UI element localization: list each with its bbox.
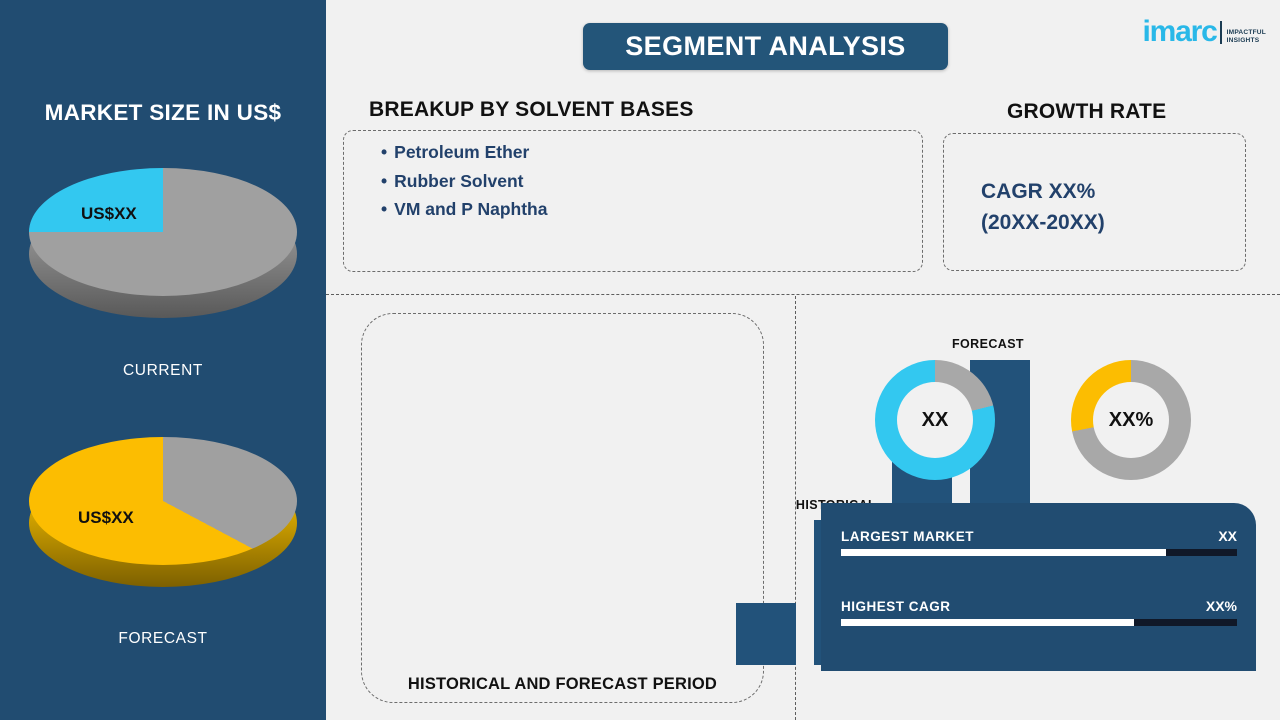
forecast-pie-value: US$XX: [78, 508, 134, 528]
list-item: Rubber Solvent: [381, 167, 547, 196]
page-title: SEGMENT ANALYSIS: [625, 31, 905, 62]
current-pie-value: US$XX: [81, 204, 137, 224]
stat-label: LARGEST MARKET: [841, 529, 974, 544]
horizontal-divider: [326, 294, 1280, 295]
cagr-period: (20XX-20XX): [981, 207, 1105, 238]
donut-center: XX: [897, 382, 973, 458]
donut-center: XX%: [1093, 382, 1169, 458]
list-item: Petroleum Ether: [381, 138, 547, 167]
stat-progress-track: [841, 619, 1237, 626]
page-title-badge: SEGMENT ANALYSIS: [583, 23, 948, 70]
pie-3d-top: [29, 168, 297, 296]
segment-analysis-panel: SEGMENT ANALYSIS imarc IMPACTFUL INSIGHT…: [326, 0, 1280, 720]
highest-cagr-donut: XX%: [1071, 360, 1191, 480]
stat-progress-track: [841, 549, 1237, 556]
logo-divider: [1220, 21, 1222, 44]
stat-progress-fill: [841, 549, 1166, 556]
current-pie-caption: CURRENT: [0, 362, 326, 380]
forecast-pie-caption: FORECAST: [0, 630, 326, 648]
key-stats-panel: LARGEST MARKET XX HIGHEST CAGR XX%: [821, 503, 1256, 671]
current-pie-chart: US$XX: [0, 168, 326, 318]
logo-tagline-line2: INSIGHTS: [1227, 37, 1266, 46]
pie-3d-top: [29, 437, 297, 565]
chart-axis-label: HISTORICAL AND FORECAST PERIOD: [361, 675, 764, 694]
forecast-pie-chart: US$XX: [0, 437, 326, 587]
donut-value: XX: [922, 409, 949, 432]
stat-largest-market: LARGEST MARKET XX: [841, 528, 1237, 556]
logo-tagline-line1: IMPACTFUL: [1227, 29, 1266, 38]
forecast-annotation: FORECAST: [928, 337, 1048, 351]
largest-market-donut: XX: [875, 360, 995, 480]
breakup-heading: BREAKUP BY SOLVENT BASES: [369, 98, 694, 122]
bar-1: [736, 603, 796, 665]
donut-value: XX%: [1109, 409, 1153, 432]
growth-rate-heading: GROWTH RATE: [1007, 100, 1166, 124]
stat-label: HIGHEST CAGR: [841, 599, 951, 614]
imarc-logo: imarc IMPACTFUL INSIGHTS: [1143, 12, 1266, 46]
cagr-value: CAGR XX%: [981, 176, 1105, 207]
list-item: VM and P Naphtha: [381, 195, 547, 224]
stat-value: XX: [1218, 528, 1237, 544]
logo-tagline: IMPACTFUL INSIGHTS: [1227, 29, 1266, 46]
stat-progress-fill: [841, 619, 1134, 626]
sidebar-title: MARKET SIZE IN US$: [0, 100, 326, 126]
historical-forecast-chart-box: [361, 313, 764, 703]
stat-value: XX%: [1206, 598, 1237, 614]
logo-wordmark: imarc: [1143, 18, 1217, 46]
cagr-text: CAGR XX% (20XX-20XX): [981, 176, 1105, 238]
stat-highest-cagr: HIGHEST CAGR XX%: [841, 598, 1237, 626]
solvent-bases-list: Petroleum Ether Rubber Solvent VM and P …: [381, 138, 547, 224]
market-size-sidebar: MARKET SIZE IN US$ US$XX CURRENT US$XX F…: [0, 0, 326, 720]
